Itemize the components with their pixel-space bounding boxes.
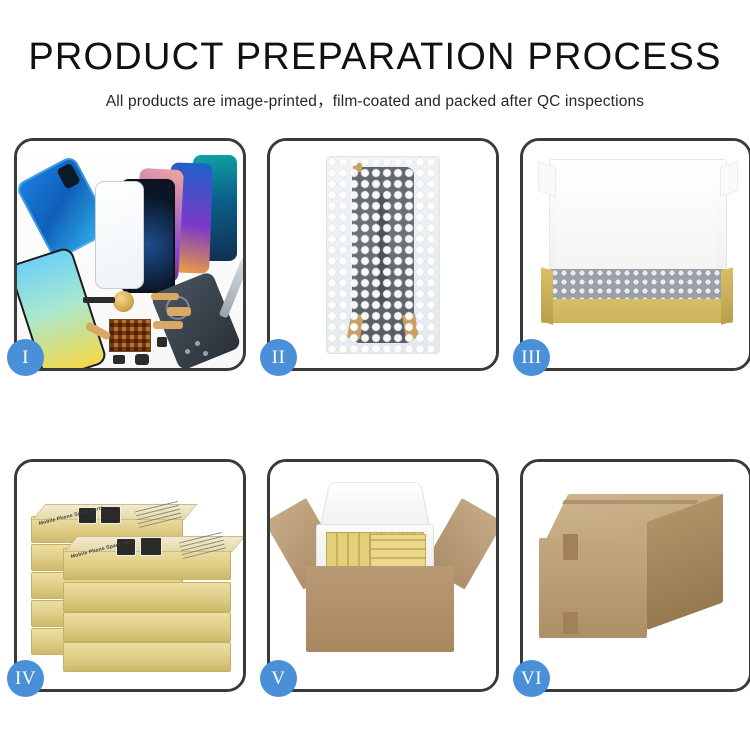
step-badge-3: III bbox=[513, 339, 550, 376]
repair-tool bbox=[219, 258, 243, 319]
step-3-image bbox=[523, 141, 749, 368]
flex-cable-4 bbox=[153, 321, 183, 329]
part-bar-1 bbox=[83, 297, 115, 303]
stack-box-6: Mobile Phone Spare Parts bbox=[63, 548, 231, 580]
screw-2 bbox=[195, 341, 200, 346]
page-title: PRODUCT PREPARATION PROCESS bbox=[0, 38, 750, 78]
step-badge-4: IV bbox=[7, 660, 44, 697]
process-panel-grid: I II III bbox=[0, 138, 750, 692]
carton-body bbox=[306, 566, 454, 652]
step-badge-2: II bbox=[260, 339, 297, 376]
box-window-d bbox=[140, 537, 162, 556]
bubble-wrap-bag bbox=[326, 156, 440, 354]
step-6-image bbox=[523, 462, 749, 689]
part-bar-2 bbox=[157, 337, 167, 347]
chip-grid-part bbox=[109, 319, 151, 352]
carton-tape-upper bbox=[563, 534, 578, 560]
screen-protector-glass bbox=[95, 181, 144, 289]
white-foam-sheet bbox=[557, 183, 717, 275]
step-badge-1: I bbox=[7, 339, 44, 376]
box-stack: Mobile Phone Spare Parts Mobile Phone Sp… bbox=[29, 482, 233, 672]
box-text-block-2 bbox=[178, 529, 226, 559]
screw-3 bbox=[203, 351, 208, 356]
page-subtitle: All products are image-printed，film-coat… bbox=[0, 89, 750, 111]
process-step-panel-4[interactable]: Mobile Phone Spare Parts Mobile Phone Sp… bbox=[14, 459, 246, 692]
part-bar-3 bbox=[113, 355, 125, 364]
step-badge-6: VI bbox=[513, 660, 550, 697]
stack-box-9 bbox=[63, 642, 231, 672]
tray-left-wall bbox=[541, 267, 553, 324]
process-step-panel-6[interactable]: VI bbox=[520, 459, 750, 692]
flex-cable-2 bbox=[167, 307, 191, 316]
screw-1 bbox=[185, 349, 190, 354]
kraft-tray bbox=[541, 269, 733, 323]
page-header: PRODUCT PREPARATION PROCESS All products… bbox=[0, 0, 750, 111]
flex-cable-1 bbox=[151, 293, 179, 300]
step-4-image: Mobile Phone Spare Parts Mobile Phone Sp… bbox=[17, 462, 243, 689]
tray-right-wall bbox=[721, 267, 733, 324]
step-badge-5: V bbox=[260, 660, 297, 697]
box-text-block-1 bbox=[134, 498, 182, 528]
step-1-image bbox=[17, 141, 243, 368]
process-step-panel-2[interactable]: II bbox=[267, 138, 499, 371]
carton-top-seam bbox=[562, 500, 698, 504]
process-step-panel-5[interactable]: V bbox=[267, 459, 499, 692]
stack-box-7 bbox=[63, 582, 231, 612]
step-5-image bbox=[270, 462, 496, 689]
process-step-panel-1[interactable]: I bbox=[14, 138, 246, 371]
stack-box-8 bbox=[63, 612, 231, 642]
carton-front-face bbox=[539, 538, 647, 638]
part-bar-4 bbox=[135, 354, 149, 365]
carton-tape-lower bbox=[563, 612, 578, 634]
bubble-texture bbox=[327, 157, 439, 353]
process-step-panel-3[interactable]: III bbox=[520, 138, 750, 371]
step-2-image bbox=[270, 141, 496, 368]
copper-coil-part bbox=[113, 291, 134, 312]
bubble-wrapped-contents bbox=[551, 269, 723, 299]
